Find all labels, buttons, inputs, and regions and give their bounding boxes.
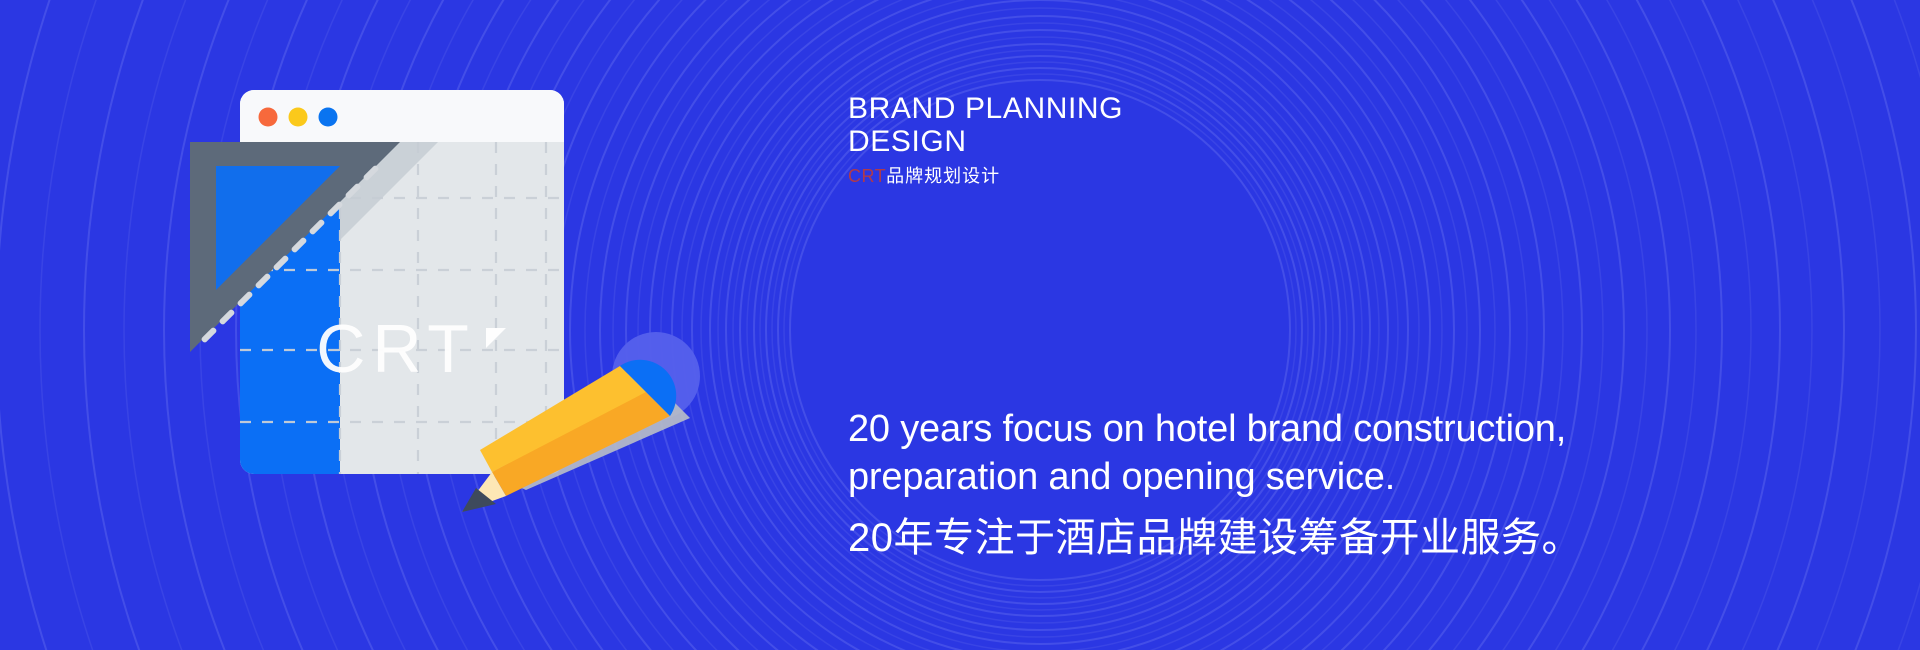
maximize-dot <box>319 108 338 127</box>
brand-illustration: CRT <box>190 60 710 530</box>
minimize-dot <box>289 108 308 127</box>
headline-block: 20 years focus on hotel brand constructi… <box>848 405 1668 563</box>
brand-banner: CRT <box>0 0 1920 650</box>
banner-text-column: BRAND PLANNING DESIGN CRT品牌规划设计 20 years… <box>848 0 1848 650</box>
headline-chinese: 20年专注于酒店品牌建设筹备开业服务。 <box>848 513 1668 563</box>
eyebrow-chinese-text: 品牌规划设计 <box>886 166 1000 186</box>
close-dot <box>259 108 278 127</box>
eyebrow-english: BRAND PLANNING DESIGN <box>848 92 1268 158</box>
eyebrow-block: BRAND PLANNING DESIGN CRT品牌规划设计 <box>848 92 1268 188</box>
headline-english: 20 years focus on hotel brand constructi… <box>848 405 1668 501</box>
crt-watermark: CRT <box>316 311 476 387</box>
brand-mark-crt: CRT <box>848 166 886 186</box>
eyebrow-chinese: CRT品牌规划设计 <box>848 164 1268 188</box>
